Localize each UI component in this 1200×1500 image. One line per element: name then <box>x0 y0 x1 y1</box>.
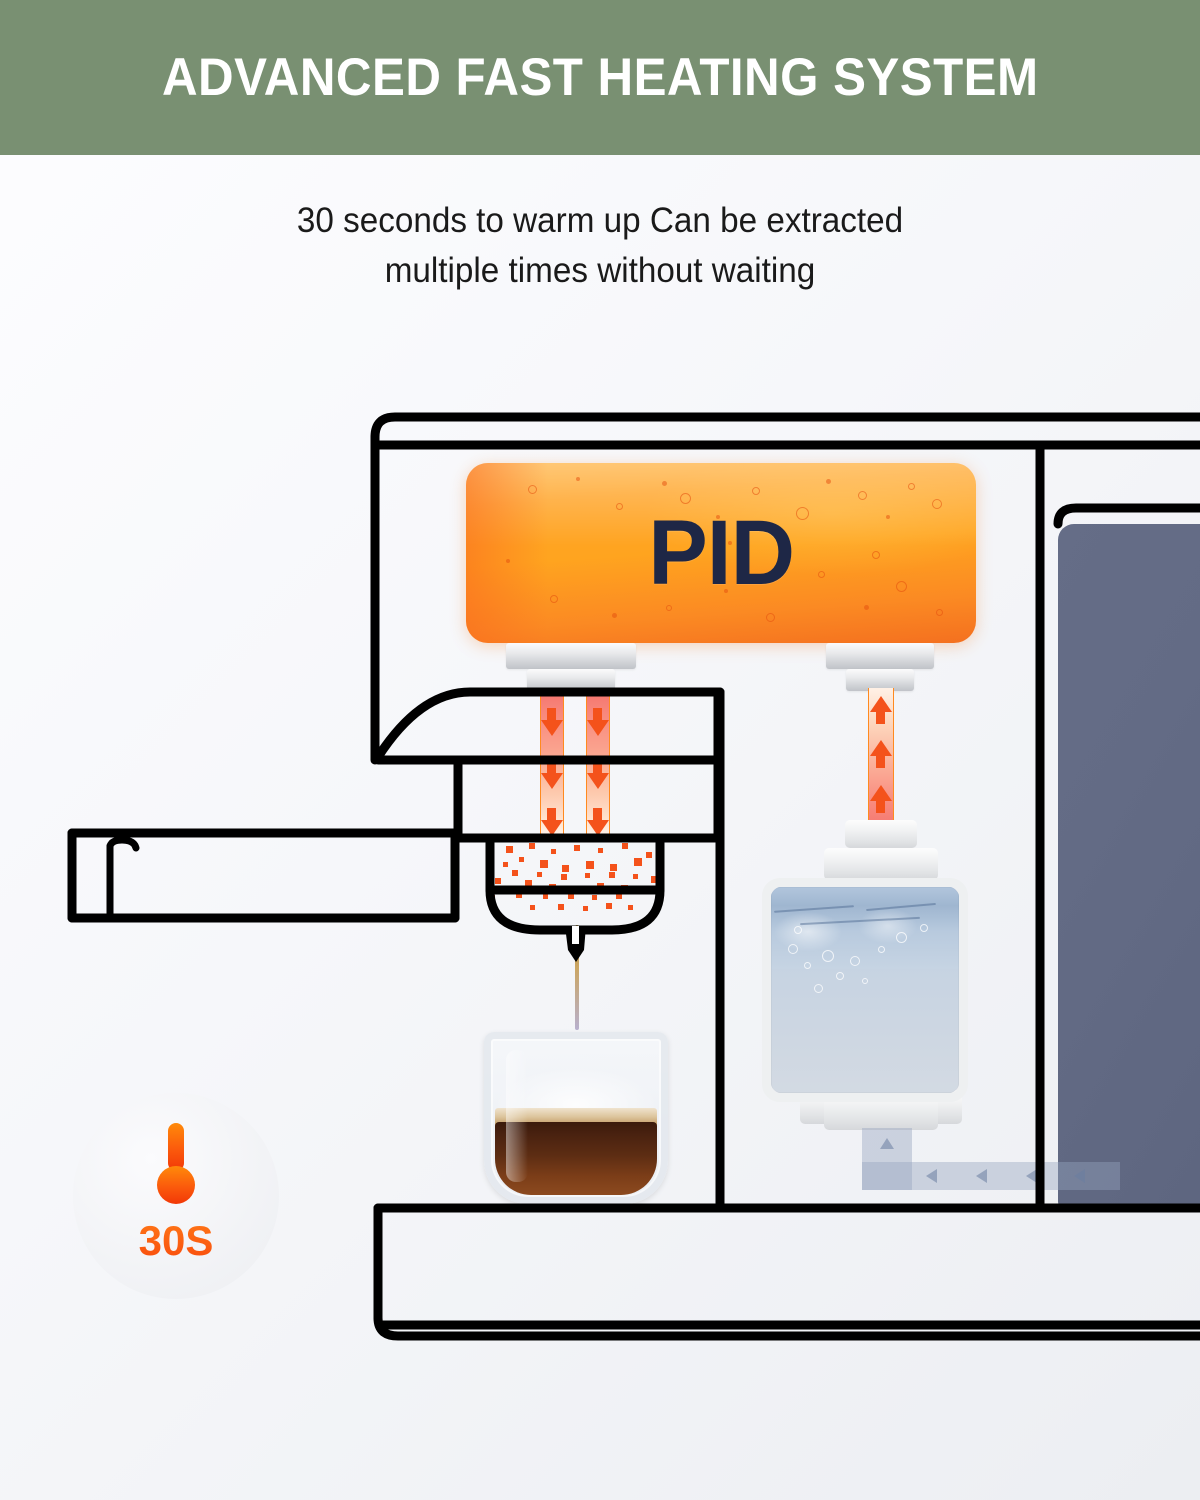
thermometer-icon <box>148 1123 204 1209</box>
portafilter-spout <box>565 926 586 962</box>
warmup-time-badge: 30S <box>73 1093 279 1299</box>
warmup-time-value: 30S <box>73 1217 279 1265</box>
pid-label: PID <box>648 501 794 606</box>
